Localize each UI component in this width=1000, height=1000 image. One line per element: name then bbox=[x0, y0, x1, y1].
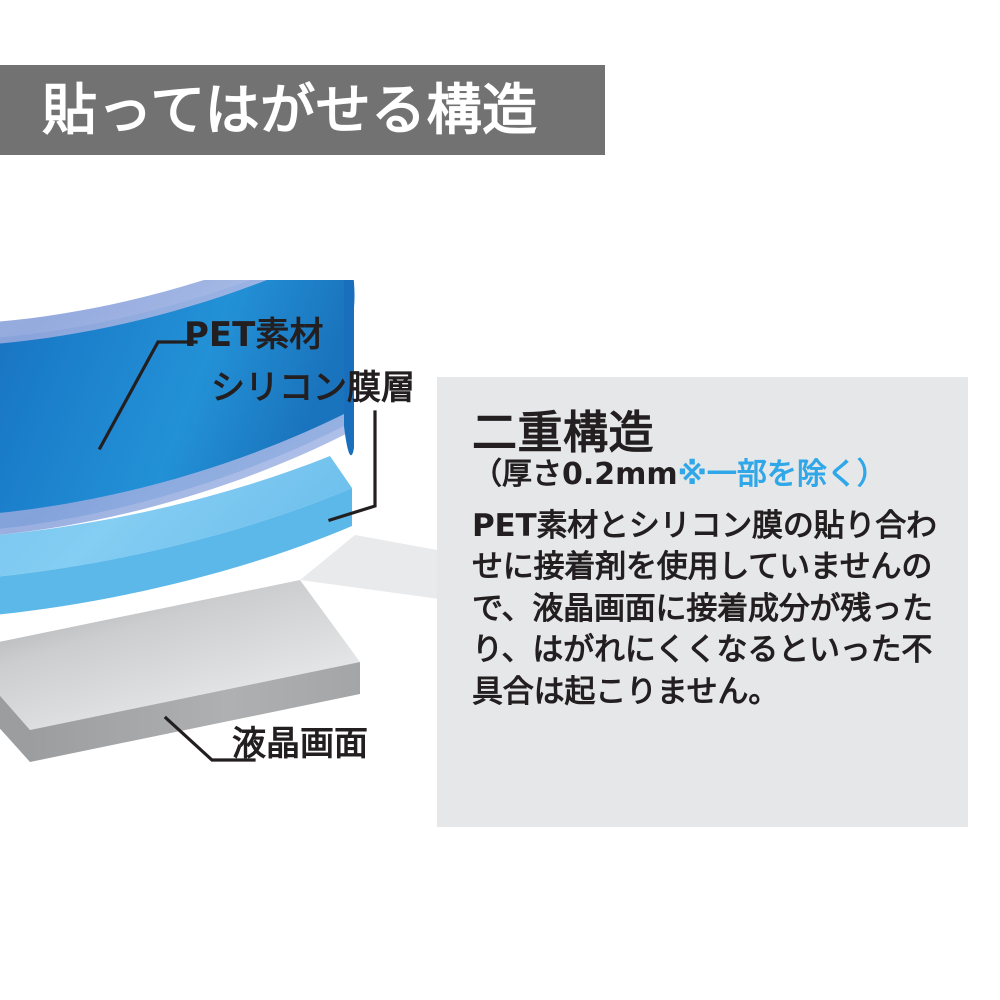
label-lcd-screen: 液晶画面 bbox=[232, 727, 368, 761]
info-subheading-exception-note: ※一部を除く） bbox=[678, 457, 887, 492]
label-silicone-film: シリコン膜層 bbox=[211, 371, 415, 405]
info-subheading: （厚さ0.2mm※一部を除く） bbox=[472, 458, 944, 492]
page-title: 貼ってはがせる構造 bbox=[42, 83, 538, 138]
info-subheading-thickness: （厚さ0.2mm bbox=[472, 457, 678, 492]
header-banner: 貼ってはがせる構造 bbox=[0, 65, 605, 155]
label-pet-material: PET素材 bbox=[184, 318, 323, 352]
info-panel: 二重構造 （厚さ0.2mm※一部を除く） PET素材とシリコン膜の貼り合わせに接… bbox=[437, 377, 968, 827]
info-body-text: PET素材とシリコン膜の貼り合わせに接着剤を使用していませんので、液晶画面に接着… bbox=[472, 506, 944, 714]
info-heading: 二重構造 bbox=[472, 409, 944, 456]
infographic-canvas: 貼ってはがせる構造 bbox=[0, 0, 1000, 1000]
